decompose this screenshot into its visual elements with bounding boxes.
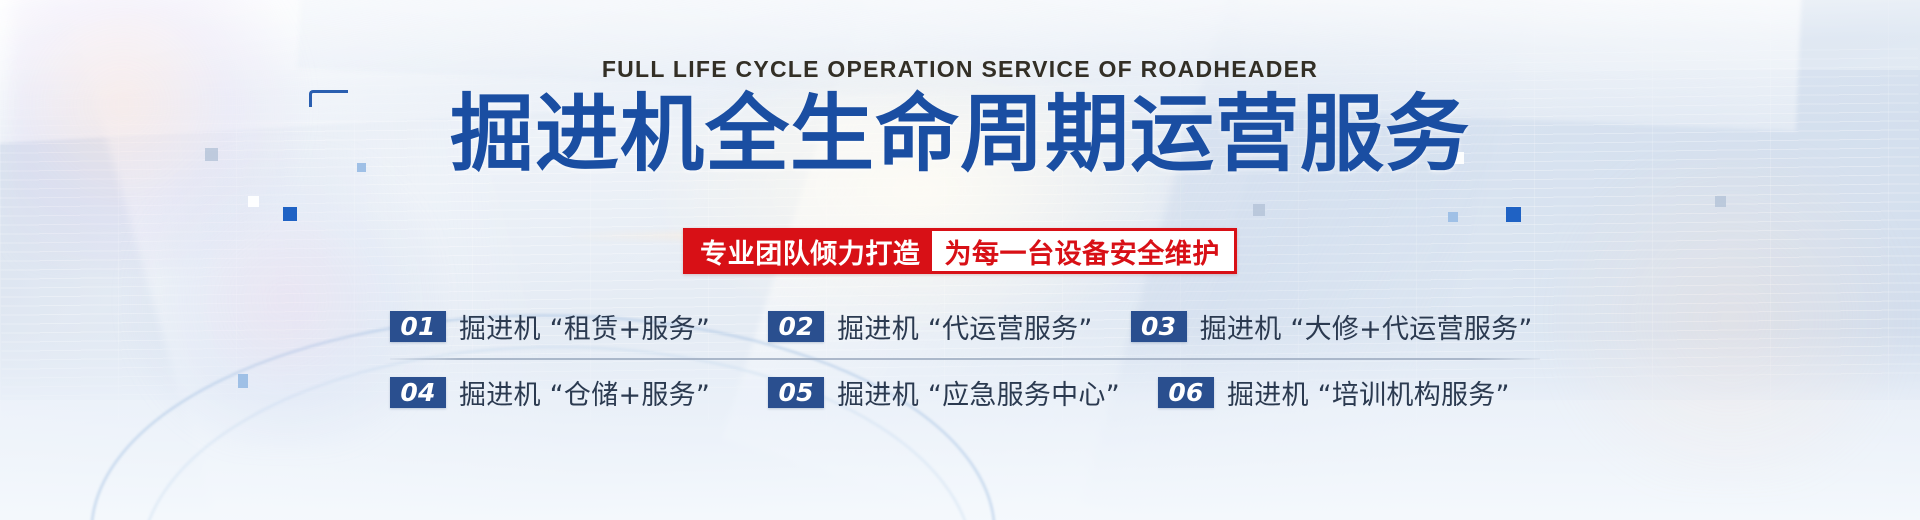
slogan-banner: 专业团队倾力打造 为每一台设备安全维护 — [0, 228, 1920, 274]
service-item[interactable]: 05 掘进机 “应急服务中心” — [768, 373, 1120, 412]
service-label: 掘进机 “应急服务中心” — [837, 373, 1120, 412]
service-item[interactable]: 04 掘进机 “仓储+服务” — [390, 373, 710, 412]
service-label: 掘进机 “培训机构服务” — [1227, 373, 1510, 412]
service-row-bottom: 04 掘进机 “仓储+服务” 05 掘进机 “应急服务中心” 06 掘进机 “培… — [390, 366, 1540, 418]
service-label: 掘进机 “大修+代运营服务” — [1200, 307, 1533, 346]
service-number-badge: 03 — [1131, 311, 1187, 342]
banner-eyebrow-english: FULL LIFE CYCLE OPERATION SERVICE OF ROA… — [0, 56, 1920, 83]
service-item[interactable]: 01 掘进机 “租赁+服务” — [390, 307, 710, 346]
slogan-secondary: 为每一台设备安全维护 — [932, 231, 1233, 271]
service-number-badge: 06 — [1158, 377, 1214, 408]
service-label: 掘进机 “代运营服务” — [837, 307, 1093, 346]
service-item[interactable]: 03 掘进机 “大修+代运营服务” — [1131, 307, 1533, 346]
service-label: 掘进机 “仓储+服务” — [459, 373, 710, 412]
service-number-badge: 01 — [390, 311, 446, 342]
service-row-top: 01 掘进机 “租赁+服务” 02 掘进机 “代运营服务” 03 掘进机 “大修… — [390, 300, 1540, 352]
banner-content: FULL LIFE CYCLE OPERATION SERVICE OF ROA… — [0, 0, 1920, 520]
banner-headline: 掘进机全生命周期运营服务 — [0, 88, 1920, 180]
service-row-divider — [390, 358, 1540, 360]
service-number-badge: 05 — [768, 377, 824, 408]
service-number-badge: 04 — [390, 377, 446, 408]
service-list: 01 掘进机 “租赁+服务” 02 掘进机 “代运营服务” 03 掘进机 “大修… — [390, 300, 1540, 418]
promotional-banner: FULL LIFE CYCLE OPERATION SERVICE OF ROA… — [0, 0, 1920, 520]
service-number-badge: 02 — [768, 311, 824, 342]
service-label: 掘进机 “租赁+服务” — [459, 307, 710, 346]
service-item[interactable]: 02 掘进机 “代运营服务” — [768, 307, 1093, 346]
slogan-primary: 专业团队倾力打造 — [686, 231, 932, 271]
service-item[interactable]: 06 掘进机 “培训机构服务” — [1158, 373, 1510, 412]
slogan-bar: 专业团队倾力打造 为每一台设备安全维护 — [683, 228, 1237, 274]
